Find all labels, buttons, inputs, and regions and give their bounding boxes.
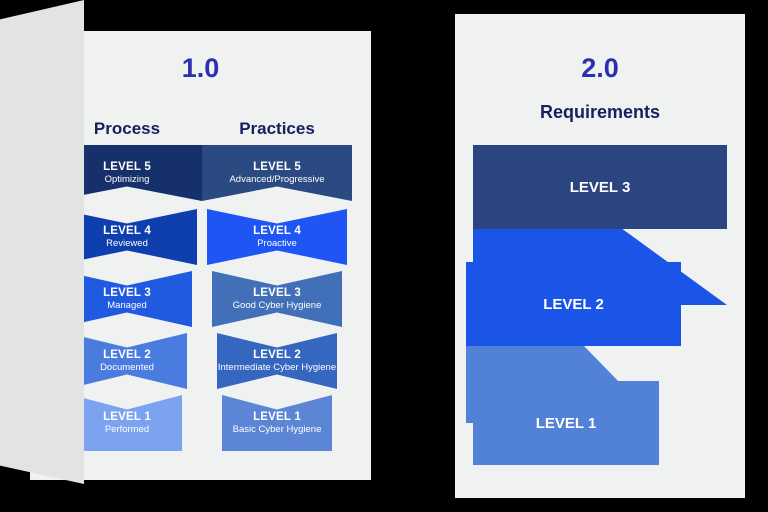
level-label: LEVEL 1 — [536, 415, 597, 432]
level-label: LEVEL 3 — [253, 287, 301, 300]
panel-version-2: 2.0 Requirements LEVEL 3LEVEL 2LEVEL 1 — [455, 14, 745, 498]
maturity-level-box[interactable]: LEVEL 4Proactive — [207, 209, 347, 265]
requirement-level-box[interactable]: LEVEL 3 — [473, 145, 727, 229]
maturity-level-box[interactable]: LEVEL 2Intermediate Cyber Hygiene — [217, 333, 337, 389]
requirement-level-box[interactable]: LEVEL 1 — [473, 381, 659, 465]
brochure-fold-panel — [0, 0, 84, 484]
maturity-level-box[interactable]: LEVEL 1Basic Cyber Hygiene — [222, 395, 332, 451]
level-description: Documented — [100, 363, 154, 374]
level-label: LEVEL 2 — [253, 349, 301, 362]
level-label: LEVEL 3 — [570, 179, 631, 196]
level-label: LEVEL 2 — [543, 296, 604, 313]
level-label: LEVEL 3 — [103, 287, 151, 300]
diagram-canvas: 1.0 Process Practices LEVEL 5OptimizingL… — [0, 0, 768, 512]
level-description: Good Cyber Hygiene — [233, 301, 322, 312]
level-description: Basic Cyber Hygiene — [233, 425, 322, 436]
level-description: Performed — [105, 425, 149, 436]
maturity-stack-requirements: LEVEL 3LEVEL 2LEVEL 1 — [455, 14, 745, 498]
requirement-level-box[interactable]: LEVEL 2 — [466, 262, 681, 346]
level-label: LEVEL 1 — [253, 411, 301, 424]
maturity-level-box[interactable]: LEVEL 3Good Cyber Hygiene — [212, 271, 342, 327]
level-description: Optimizing — [105, 175, 150, 186]
level-description: Proactive — [257, 239, 297, 250]
maturity-level-box[interactable]: LEVEL 5Advanced/Progressive — [202, 145, 352, 201]
column-heading-practices: Practices — [202, 119, 352, 139]
level-label: LEVEL 5 — [253, 161, 301, 174]
level-description: Reviewed — [106, 239, 148, 250]
level-description: Intermediate Cyber Hygiene — [218, 363, 336, 374]
maturity-level-box[interactable]: LEVEL 2Documented — [67, 333, 187, 389]
level-label: LEVEL 4 — [253, 225, 301, 238]
maturity-level-box[interactable]: LEVEL 1Performed — [72, 395, 182, 451]
level-label: LEVEL 4 — [103, 225, 151, 238]
level-description: Advanced/Progressive — [229, 175, 324, 186]
level-label: LEVEL 5 — [103, 161, 151, 174]
level-description: Managed — [107, 301, 147, 312]
level-label: LEVEL 2 — [103, 349, 151, 362]
level-label: LEVEL 1 — [103, 411, 151, 424]
